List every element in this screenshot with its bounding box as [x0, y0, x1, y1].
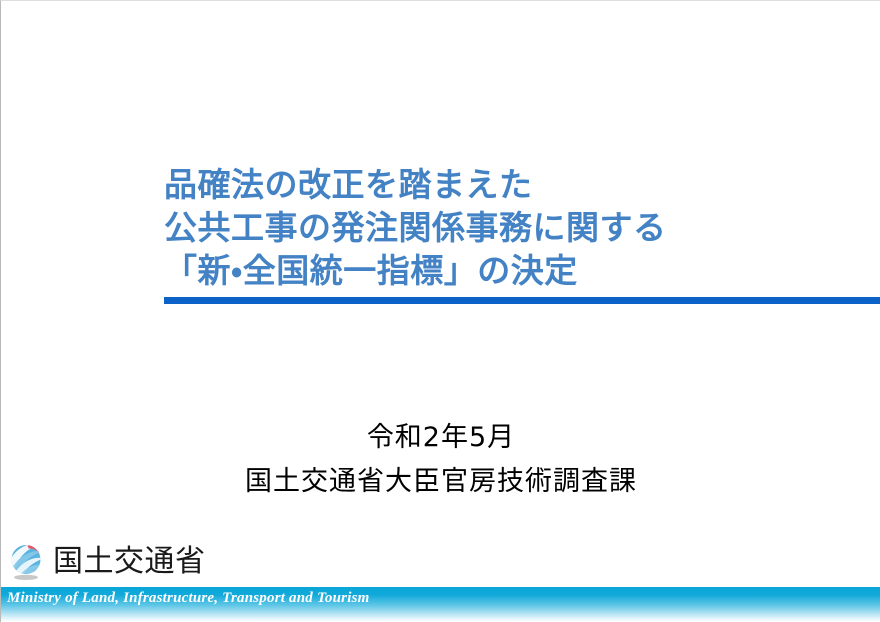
issuing-organization: 国土交通省大臣官房技術調査課 [1, 460, 880, 504]
title-line-3: 「新・全国統一指標」の決定 [164, 249, 880, 292]
slide-title: 品確法の改正を踏まえた 公共工事の発注関係事務に関する 「新・全国統一指標」の決… [164, 163, 880, 292]
ministry-name-en: Ministry of Land, Infrastructure, Transp… [7, 588, 369, 608]
title-line-2: 公共工事の発注関係事務に関する [164, 206, 880, 249]
title-underline-rule [164, 297, 880, 304]
mlit-logo-icon [7, 542, 47, 582]
footer-gradient-bar: Ministry of Land, Infrastructure, Transp… [1, 587, 880, 622]
ministry-brand: 国土交通省 [7, 542, 206, 582]
ministry-name-jp: 国土交通省 [53, 542, 206, 582]
title-line-1: 品確法の改正を踏まえた [164, 163, 880, 206]
slide-footer: 国土交通省 Ministry of Land, Infrastructure, … [1, 540, 880, 622]
publication-date: 令和2年5月 [1, 416, 880, 460]
slide-meta: 令和2年5月 国土交通省大臣官房技術調査課 [1, 416, 880, 504]
presentation-slide: 品確法の改正を踏まえた 公共工事の発注関係事務に関する 「新・全国統一指標」の決… [0, 0, 880, 622]
